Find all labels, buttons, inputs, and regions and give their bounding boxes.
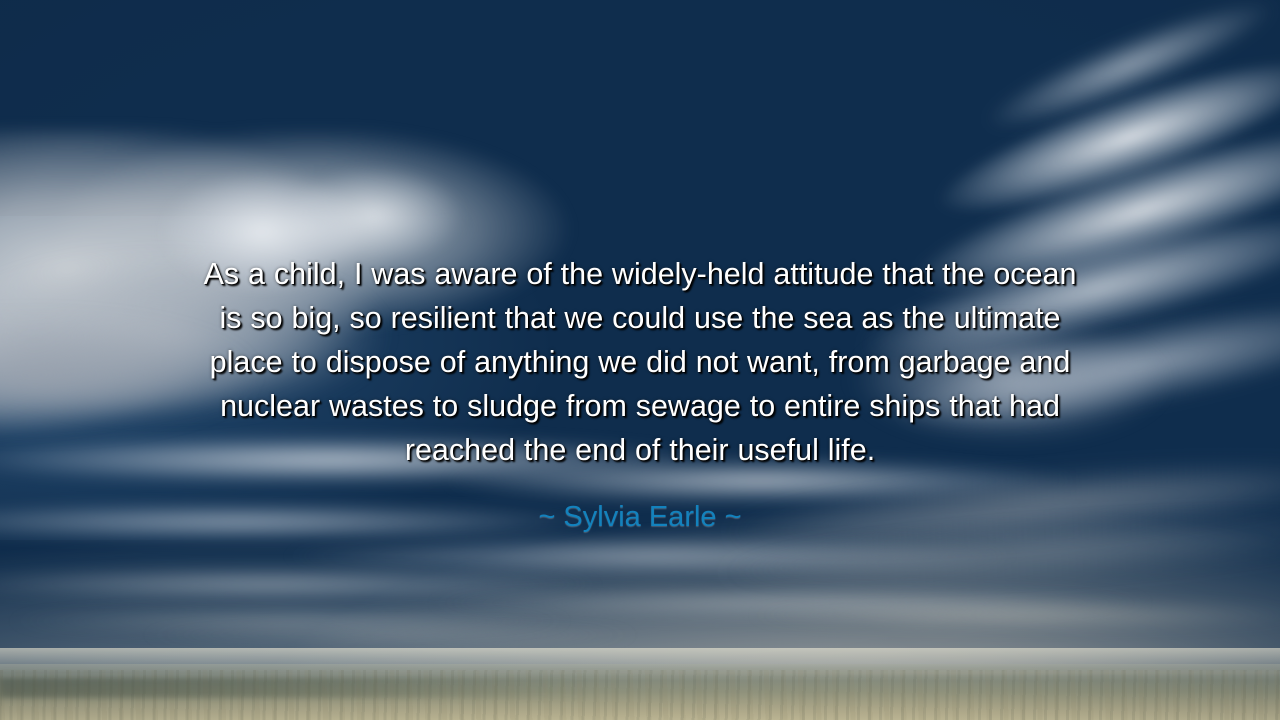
ground-shadow-left bbox=[0, 678, 589, 698]
horizon-line bbox=[0, 671, 1280, 674]
quote-container: As a child, I was aware of the widely-he… bbox=[0, 252, 1280, 472]
quote-attribution: ~ Sylvia Earle ~ bbox=[0, 499, 1280, 535]
quote-image-canvas: As a child, I was aware of the widely-he… bbox=[0, 0, 1280, 720]
cloud-band-10 bbox=[680, 600, 1280, 630]
quote-text: As a child, I was aware of the widely-he… bbox=[62, 252, 1218, 472]
cloud-band-11 bbox=[80, 624, 700, 646]
